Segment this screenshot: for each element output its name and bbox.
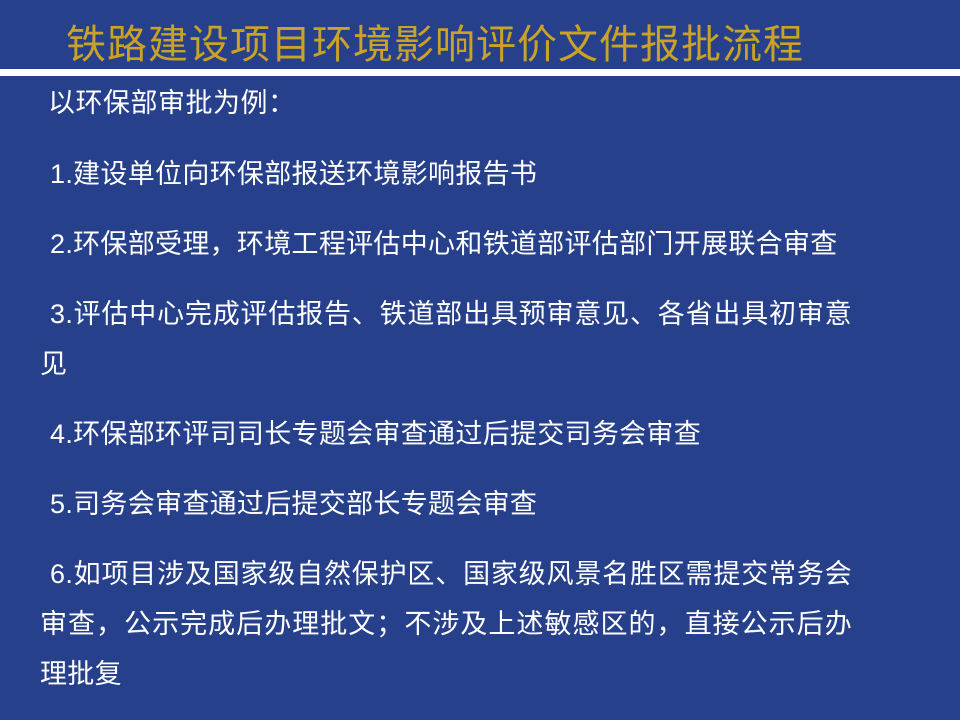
slide-title-area: 铁路建设项目环境影响评价文件报批流程 bbox=[0, 0, 960, 77]
process-step-list: 1.建设单位向环保部报送环境影响报告书 2.环保部受理，环境工程评估中心和铁道部… bbox=[40, 149, 920, 699]
list-item: 1.建设单位向环保部报送环境影响报告书 bbox=[40, 149, 852, 199]
presentation-slide: 铁路建设项目环境影响评价文件报批流程 以环保部审批为例： 1.建设单位向环保部报… bbox=[0, 0, 960, 720]
list-item: 6.如项目涉及国家级自然保护区、国家级风景名胜区需提交常务会审查，公示完成后办理… bbox=[40, 549, 852, 699]
list-item: 2.环保部受理，环境工程评估中心和铁道部评估部门开展联合审查 bbox=[40, 219, 852, 269]
list-item: 4.环保部环评司司长专题会审查通过后提交司务会审查 bbox=[40, 409, 852, 459]
list-item: 5.司务会审查通过后提交部长专题会审查 bbox=[40, 479, 852, 529]
page-title: 铁路建设项目环境影响评价文件报批流程 bbox=[66, 22, 894, 68]
list-item: 3.评估中心完成评估报告、铁道部出具预审意见、各省出具初审意见 bbox=[40, 289, 852, 389]
slide-body-area: 以环保部审批为例： 1.建设单位向环保部报送环境影响报告书 2.环保部受理，环境… bbox=[0, 77, 960, 720]
title-underline-rule bbox=[0, 69, 960, 76]
intro-text: 以环保部审批为例： bbox=[48, 86, 296, 120]
